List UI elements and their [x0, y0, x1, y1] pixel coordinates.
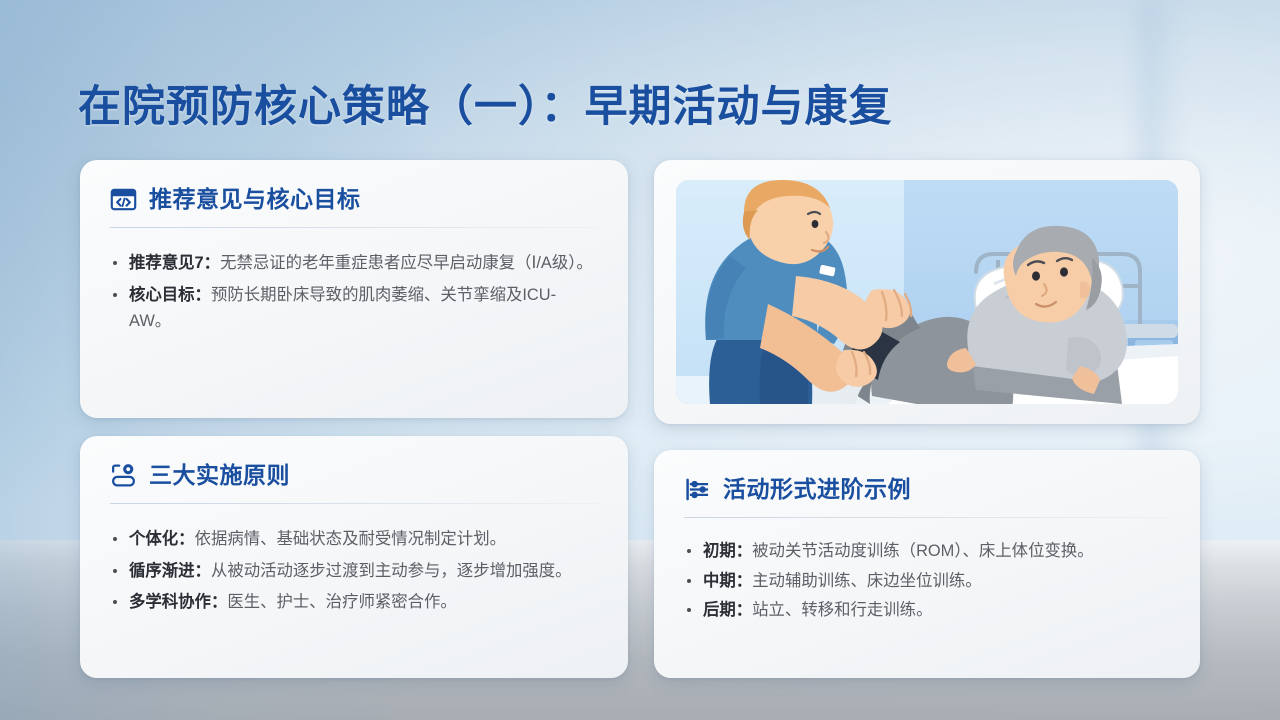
card-stages: 活动形式进阶示例 初期：被动关节活动度训练（ROM）、床上体位变换。 中期：主动…	[654, 450, 1200, 678]
code-window-icon	[110, 186, 137, 213]
bullet-list-principles: 个体化：依据病情、基础状态及耐受情况制定计划。 循序渐进：从被动活动逐步过渡到主…	[110, 526, 598, 616]
list-item: 后期：站立、转移和行走训练。	[684, 597, 1170, 624]
list-item: 初期：被动关节活动度训练（ROM）、床上体位变换。	[684, 538, 1170, 565]
bullet-text: 无禁忌证的老年重症患者应尽早启动康复（Ⅰ/A级）。	[220, 254, 593, 272]
bullet-list-recommendation: 推荐意见7：无禁忌证的老年重症患者应尽早启动康复（Ⅰ/A级）。 核心目标：预防长…	[110, 250, 598, 335]
bullet-label: 循序渐进：	[129, 562, 211, 580]
user-card-icon	[110, 462, 137, 489]
bullet-label: 多学科协作：	[129, 593, 227, 611]
bullet-list-stages: 初期：被动关节活动度训练（ROM）、床上体位变换。 中期：主动辅助训练、床边坐位…	[684, 538, 1170, 624]
sliders-icon	[684, 476, 711, 503]
bullet-label: 中期：	[703, 572, 752, 590]
card-header: 推荐意见与核心目标	[110, 186, 598, 213]
list-item: 多学科协作：医生、护士、治疗师紧密合作。	[110, 589, 598, 616]
bullet-text: 站立、转移和行走训练。	[752, 601, 932, 619]
bullet-text: 医生、护士、治疗师紧密合作。	[227, 593, 456, 611]
card-header: 活动形式进阶示例	[684, 476, 1170, 503]
card-heading-recommendation: 推荐意见与核心目标	[149, 188, 361, 211]
list-item: 中期：主动辅助训练、床边坐位训练。	[684, 568, 1170, 595]
card-heading-principles: 三大实施原则	[149, 464, 290, 487]
card-heading-stages: 活动形式进阶示例	[723, 478, 911, 501]
slide-root: 在院预防核心策略（一）：早期活动与康复 推荐意见与核心目标	[0, 0, 1280, 720]
card-principles: 三大实施原则 个体化：依据病情、基础状态及耐受情况制定计划。 循序渐进：从被动活…	[80, 436, 628, 678]
list-item: 核心目标：预防长期卧床导致的肌肉萎缩、关节挛缩及ICU-AW。	[110, 282, 598, 335]
list-item: 个体化：依据病情、基础状态及耐受情况制定计划。	[110, 526, 598, 553]
header-divider	[110, 503, 598, 504]
page-title: 在院预防核心策略（一）：早期活动与康复	[78, 72, 893, 134]
card-header: 三大实施原则	[110, 462, 598, 489]
card-illustration	[654, 160, 1200, 424]
bullet-text: 被动关节活动度训练（ROM）、床上体位变换。	[752, 542, 1093, 560]
header-divider	[684, 517, 1170, 518]
bullet-label: 初期：	[703, 542, 752, 560]
header-divider	[110, 227, 598, 228]
bullet-text: 依据病情、基础状态及耐受情况制定计划。	[195, 530, 506, 548]
list-item: 推荐意见7：无禁忌证的老年重症患者应尽早启动康复（Ⅰ/A级）。	[110, 250, 598, 277]
bullet-text: 从被动活动逐步过渡到主动参与，逐步增加强度。	[211, 562, 572, 580]
card-recommendation: 推荐意见与核心目标 推荐意见7：无禁忌证的老年重症患者应尽早启动康复（Ⅰ/A级）…	[80, 160, 628, 418]
rehab-illustration	[676, 180, 1178, 404]
bullet-label: 推荐意见7：	[129, 254, 220, 272]
bullet-label: 后期：	[703, 601, 752, 619]
list-item: 循序渐进：从被动活动逐步过渡到主动参与，逐步增加强度。	[110, 558, 598, 585]
bullet-label: 个体化：	[129, 530, 195, 548]
bullet-text: 主动辅助训练、床边坐位训练。	[752, 572, 981, 590]
bullet-label: 核心目标：	[129, 286, 211, 304]
